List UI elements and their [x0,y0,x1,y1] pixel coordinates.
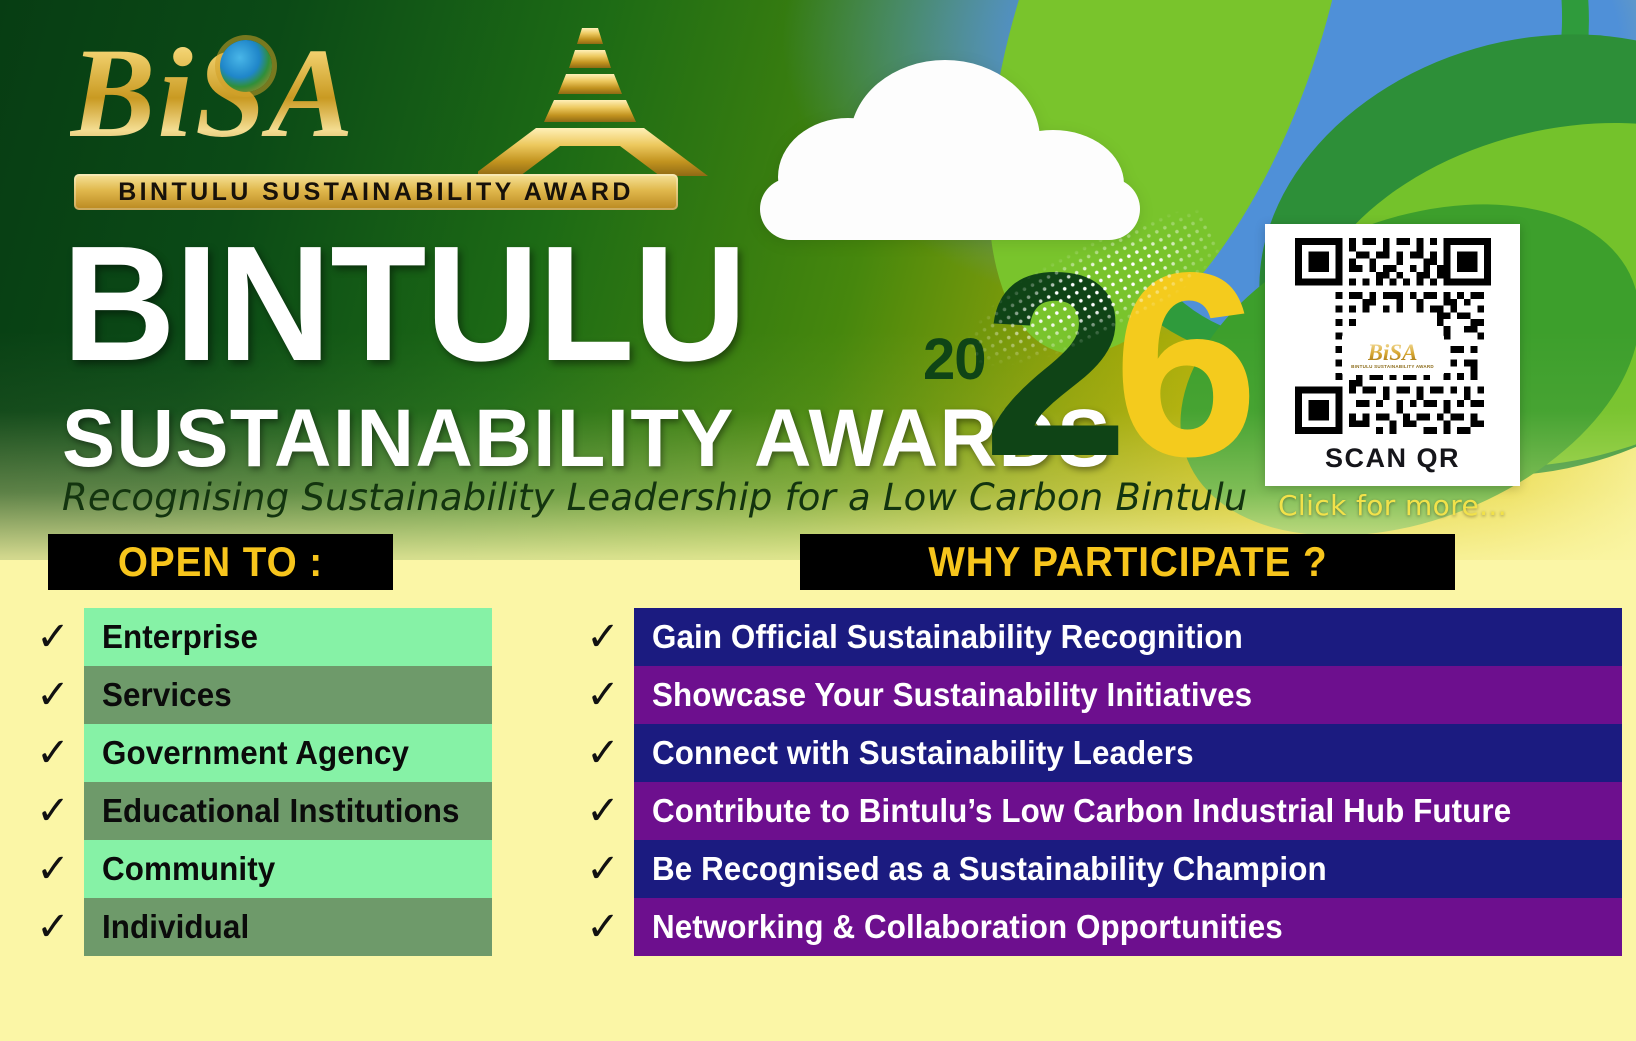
why-participate-row-3: Connect with Sustainability Leaders [634,724,1622,782]
list-item: ✓Gain Official Sustainability Recognitio… [572,608,1622,666]
checkmark-icon: ✓ [572,608,634,666]
open-to-row-1: Enterprise [84,608,492,666]
checkmark-icon: ✓ [22,666,84,724]
list-item-label: Connect with Sustainability Leaders [652,734,1194,772]
list-item-label: Networking & Collaboration Opportunities [652,908,1283,946]
qr-center-logo-mark: BiSA [1368,341,1418,364]
list-item: ✓Contribute to Bintulu’s Low Carbon Indu… [572,782,1622,840]
qr-card[interactable]: BiSA BINTULU SUSTAINABILITY AWARD SCAN Q… [1265,224,1520,486]
page-title: BINTULU [62,222,746,386]
list-item-label: Educational Institutions [102,792,460,830]
section-header-why-participate-label: WHY PARTICIPATE ? [928,538,1327,586]
checkmark-icon: ✓ [572,782,634,840]
checkmark-icon: ✓ [22,724,84,782]
checkmark-icon: ✓ [22,608,84,666]
list-item: ✓Enterprise [22,608,492,666]
why-participate-list: ✓Gain Official Sustainability Recognitio… [572,608,1622,956]
bisa-logo-nameplate: BINTULU SUSTAINABILITY AWARD [74,174,678,210]
checkmark-icon: ✓ [572,898,634,956]
list-item: ✓Be Recognised as a Sustainability Champ… [572,840,1622,898]
checkmark-icon: ✓ [572,840,634,898]
section-header-open-to-label: OPEN TO : [118,538,323,586]
list-item-label: Showcase Your Sustainability Initiatives [652,676,1252,714]
list-item-label: Enterprise [102,618,258,656]
open-to-row-3: Government Agency [84,724,492,782]
why-participate-row-5: Be Recognised as a Sustainability Champi… [634,840,1622,898]
list-item-label: Government Agency [102,734,409,772]
list-item: ✓Showcase Your Sustainability Initiative… [572,666,1622,724]
list-item: ✓Community [22,840,492,898]
list-item: ✓Services [22,666,492,724]
qr-center-logo-sub: BINTULU SUSTAINABILITY AWARD [1351,364,1434,369]
list-item-label: Services [102,676,232,714]
why-participate-row-1: Gain Official Sustainability Recognition [634,608,1622,666]
list-item: ✓Government Agency [22,724,492,782]
list-item: ✓Educational Institutions [22,782,492,840]
list-item: ✓Individual [22,898,492,956]
qr-center-logo: BiSA BINTULU SUSTAINABILITY AWARD [1342,335,1444,375]
open-to-list: ✓Enterprise✓Services✓Government Agency✓E… [22,608,492,956]
checkmark-icon: ✓ [22,898,84,956]
checkmark-icon: ✓ [22,840,84,898]
year-badge: 2 6 20 [905,228,1245,518]
open-to-row-4: Educational Institutions [84,782,492,840]
list-item: ✓Connect with Sustainability Leaders [572,724,1622,782]
list-item-label: Community [102,850,275,888]
scan-qr-label: SCAN QR [1265,443,1520,474]
gas-flare-tower-icon [478,28,708,176]
open-to-row-6: Individual [84,898,492,956]
bisa-logo[interactable]: BiSA BINTULU SUSTAINABILITY AWARD [70,18,690,218]
click-for-more-link[interactable]: Click for more... [1265,489,1520,522]
poster-root: BiSA BINTULU SUSTAINABILITY AWARD [0,0,1636,1041]
bisa-logo-nameplate-text: BINTULU SUSTAINABILITY AWARD [118,178,634,207]
list-item-label: Individual [102,908,249,946]
list-item-label: Gain Official Sustainability Recognition [652,618,1243,656]
list-item-label: Be Recognised as a Sustainability Champi… [652,850,1327,888]
list-item: ✓Networking & Collaboration Opportunitie… [572,898,1622,956]
globe-icon [220,40,272,92]
why-participate-row-2: Showcase Your Sustainability Initiatives [634,666,1622,724]
checkmark-icon: ✓ [572,666,634,724]
why-participate-row-4: Contribute to Bintulu’s Low Carbon Indus… [634,782,1622,840]
section-header-why-participate: WHY PARTICIPATE ? [800,534,1455,590]
why-participate-row-6: Networking & Collaboration Opportunities [634,898,1622,956]
open-to-row-2: Services [84,666,492,724]
section-header-open-to: OPEN TO : [48,534,393,590]
checkmark-icon: ✓ [22,782,84,840]
list-item-label: Contribute to Bintulu’s Low Carbon Indus… [652,792,1511,830]
checkmark-icon: ✓ [572,724,634,782]
open-to-row-5: Community [84,840,492,898]
